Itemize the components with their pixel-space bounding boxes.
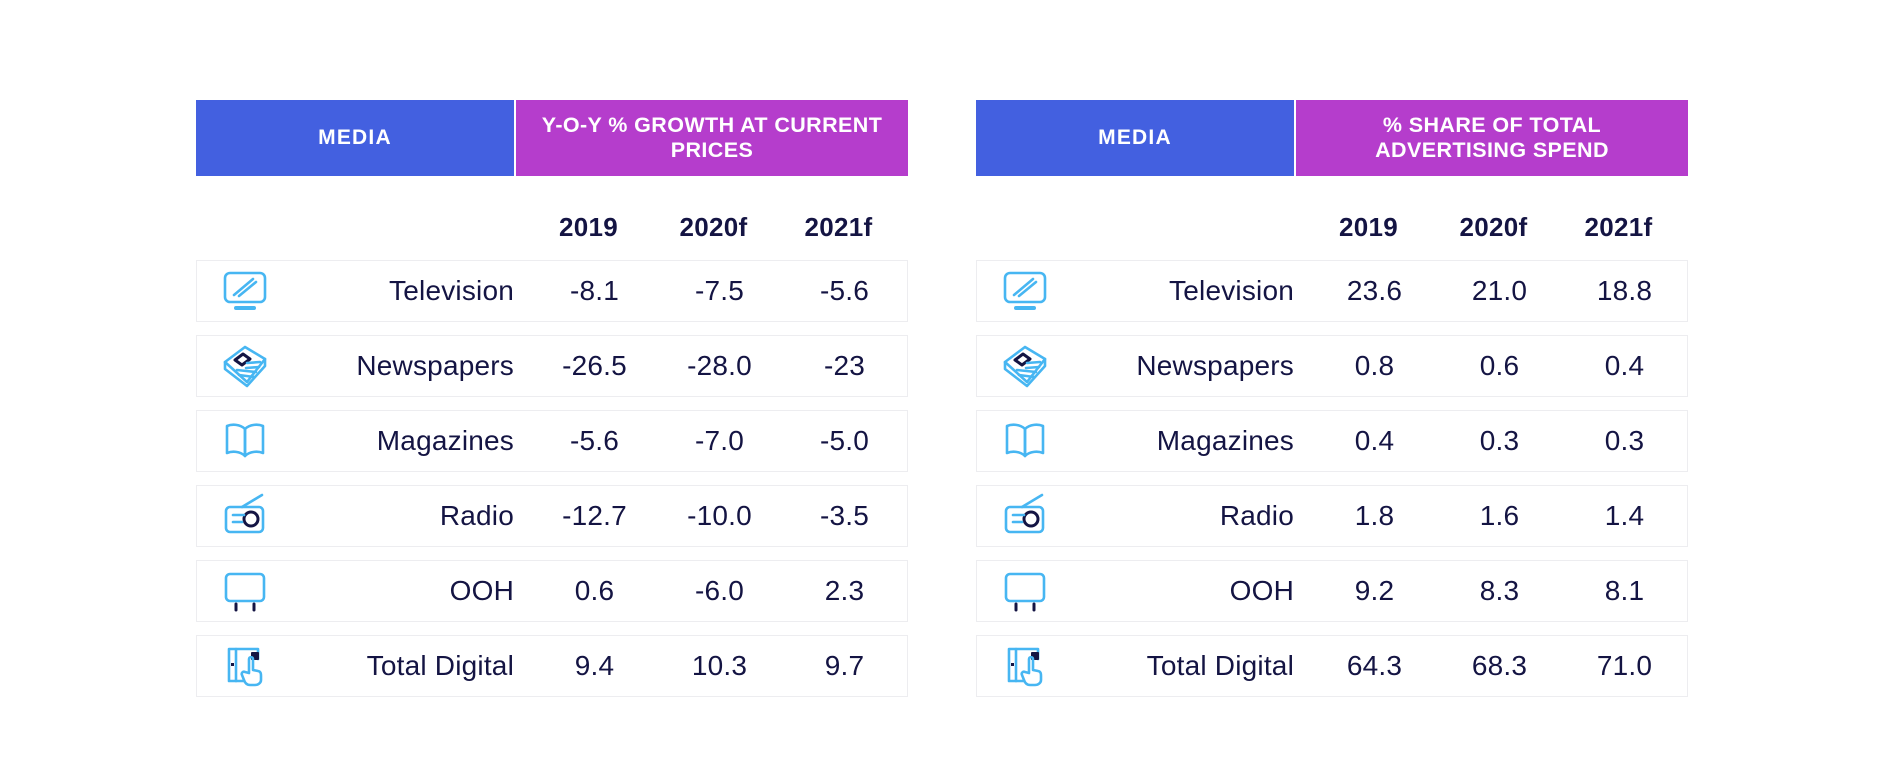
row-value: -5.6 <box>782 275 907 307</box>
tablet-tap-icon <box>1000 643 1050 689</box>
row-value: 71.0 <box>1562 650 1687 682</box>
newspaper-icon <box>219 342 271 390</box>
tables-container: MEDIAY-O-Y % GROWTH AT CURRENT PRICES201… <box>0 0 1881 697</box>
tablet-tap-icon <box>220 643 270 689</box>
table-header: MEDIA% SHARE OF TOTAL ADVERTISING SPEND <box>976 100 1688 176</box>
row-value: 0.3 <box>1562 425 1687 457</box>
row-value: 0.6 <box>532 575 657 607</box>
table-row: Magazines-5.6-7.0-5.0 <box>196 410 908 472</box>
row-value: 8.3 <box>1437 575 1562 607</box>
television-icon <box>220 268 270 314</box>
header-cell-metric: Y-O-Y % GROWTH AT CURRENT PRICES <box>514 100 908 176</box>
row-value: 23.6 <box>1312 275 1437 307</box>
header-cell-media: MEDIA <box>976 100 1294 176</box>
year-header-row: 20192020f2021f <box>196 204 908 250</box>
magazine-icon <box>1000 419 1050 463</box>
row-value: -10.0 <box>657 500 782 532</box>
year-header-2020f: 2020f <box>651 212 776 243</box>
row-value: 18.8 <box>1562 275 1687 307</box>
row-label: OOH <box>1073 575 1312 607</box>
row-label: Radio <box>293 500 532 532</box>
row-value: -3.5 <box>782 500 907 532</box>
row-value: -26.5 <box>532 350 657 382</box>
row-value: 0.4 <box>1312 425 1437 457</box>
row-value: -7.5 <box>657 275 782 307</box>
television-icon <box>1000 268 1050 314</box>
table-body: Television-8.1-7.5-5.6 Newspapers-26.5-2… <box>196 260 908 697</box>
row-label: OOH <box>293 575 532 607</box>
row-label: Newspapers <box>293 350 532 382</box>
row-value: 0.6 <box>1437 350 1562 382</box>
table-body: Television23.621.018.8 Newspapers0.80.60… <box>976 260 1688 697</box>
row-value: -23 <box>782 350 907 382</box>
row-label: Magazines <box>1073 425 1312 457</box>
table-row: Total Digital64.368.371.0 <box>976 635 1688 697</box>
row-value: 9.4 <box>532 650 657 682</box>
row-value: 9.7 <box>782 650 907 682</box>
row-value: 68.3 <box>1437 650 1562 682</box>
row-value: 0.8 <box>1312 350 1437 382</box>
table-header: MEDIAY-O-Y % GROWTH AT CURRENT PRICES <box>196 100 908 176</box>
row-value: 9.2 <box>1312 575 1437 607</box>
row-value: -12.7 <box>532 500 657 532</box>
row-icon-cell <box>197 419 293 463</box>
row-value: 21.0 <box>1437 275 1562 307</box>
header-cell-media: MEDIA <box>196 100 514 176</box>
row-icon-cell <box>197 342 293 390</box>
row-value: 8.1 <box>1562 575 1687 607</box>
table-row: Radio1.81.61.4 <box>976 485 1688 547</box>
row-value: 64.3 <box>1312 650 1437 682</box>
row-label: Newspapers <box>1073 350 1312 382</box>
radio-icon <box>1000 493 1050 539</box>
year-header-row: 20192020f2021f <box>976 204 1688 250</box>
row-label: Television <box>293 275 532 307</box>
row-label: Total Digital <box>293 650 532 682</box>
table-growth-table: MEDIAY-O-Y % GROWTH AT CURRENT PRICES201… <box>196 100 908 697</box>
year-header-2021f: 2021f <box>1556 212 1681 243</box>
row-value: -8.1 <box>532 275 657 307</box>
row-value: -5.0 <box>782 425 907 457</box>
row-label: Total Digital <box>1073 650 1312 682</box>
row-value: 0.3 <box>1437 425 1562 457</box>
row-icon-cell <box>197 568 293 614</box>
billboard-icon <box>1000 568 1050 614</box>
row-value: -5.6 <box>532 425 657 457</box>
row-icon-cell <box>197 493 293 539</box>
year-header-2021f: 2021f <box>776 212 901 243</box>
row-icon-cell <box>197 643 293 689</box>
table-share-table: MEDIA% SHARE OF TOTAL ADVERTISING SPEND2… <box>976 100 1688 697</box>
row-value: -7.0 <box>657 425 782 457</box>
page-root: MEDIAY-O-Y % GROWTH AT CURRENT PRICES201… <box>0 0 1881 765</box>
table-row: Radio-12.7-10.0-3.5 <box>196 485 908 547</box>
magazine-icon <box>220 419 270 463</box>
row-label: Television <box>1073 275 1312 307</box>
row-icon-cell <box>977 493 1073 539</box>
table-row: OOH9.28.38.1 <box>976 560 1688 622</box>
row-value: 1.8 <box>1312 500 1437 532</box>
table-row: Television23.621.018.8 <box>976 260 1688 322</box>
table-row: Magazines0.40.30.3 <box>976 410 1688 472</box>
row-icon-cell <box>977 568 1073 614</box>
row-label: Radio <box>1073 500 1312 532</box>
table-row: Total Digital9.410.39.7 <box>196 635 908 697</box>
year-header-2019: 2019 <box>526 212 651 243</box>
row-value: 2.3 <box>782 575 907 607</box>
row-value: 1.4 <box>1562 500 1687 532</box>
row-icon-cell <box>197 268 293 314</box>
row-label: Magazines <box>293 425 532 457</box>
radio-icon <box>220 493 270 539</box>
row-icon-cell <box>977 342 1073 390</box>
year-header-2019: 2019 <box>1306 212 1431 243</box>
newspaper-icon <box>999 342 1051 390</box>
year-header-2020f: 2020f <box>1431 212 1556 243</box>
row-value: 10.3 <box>657 650 782 682</box>
table-row: OOH0.6-6.02.3 <box>196 560 908 622</box>
row-value: -28.0 <box>657 350 782 382</box>
row-value: -6.0 <box>657 575 782 607</box>
row-value: 1.6 <box>1437 500 1562 532</box>
table-row: Television-8.1-7.5-5.6 <box>196 260 908 322</box>
header-cell-metric: % SHARE OF TOTAL ADVERTISING SPEND <box>1294 100 1688 176</box>
row-icon-cell <box>977 643 1073 689</box>
table-row: Newspapers0.80.60.4 <box>976 335 1688 397</box>
billboard-icon <box>220 568 270 614</box>
row-icon-cell <box>977 268 1073 314</box>
row-icon-cell <box>977 419 1073 463</box>
table-row: Newspapers-26.5-28.0-23 <box>196 335 908 397</box>
row-value: 0.4 <box>1562 350 1687 382</box>
